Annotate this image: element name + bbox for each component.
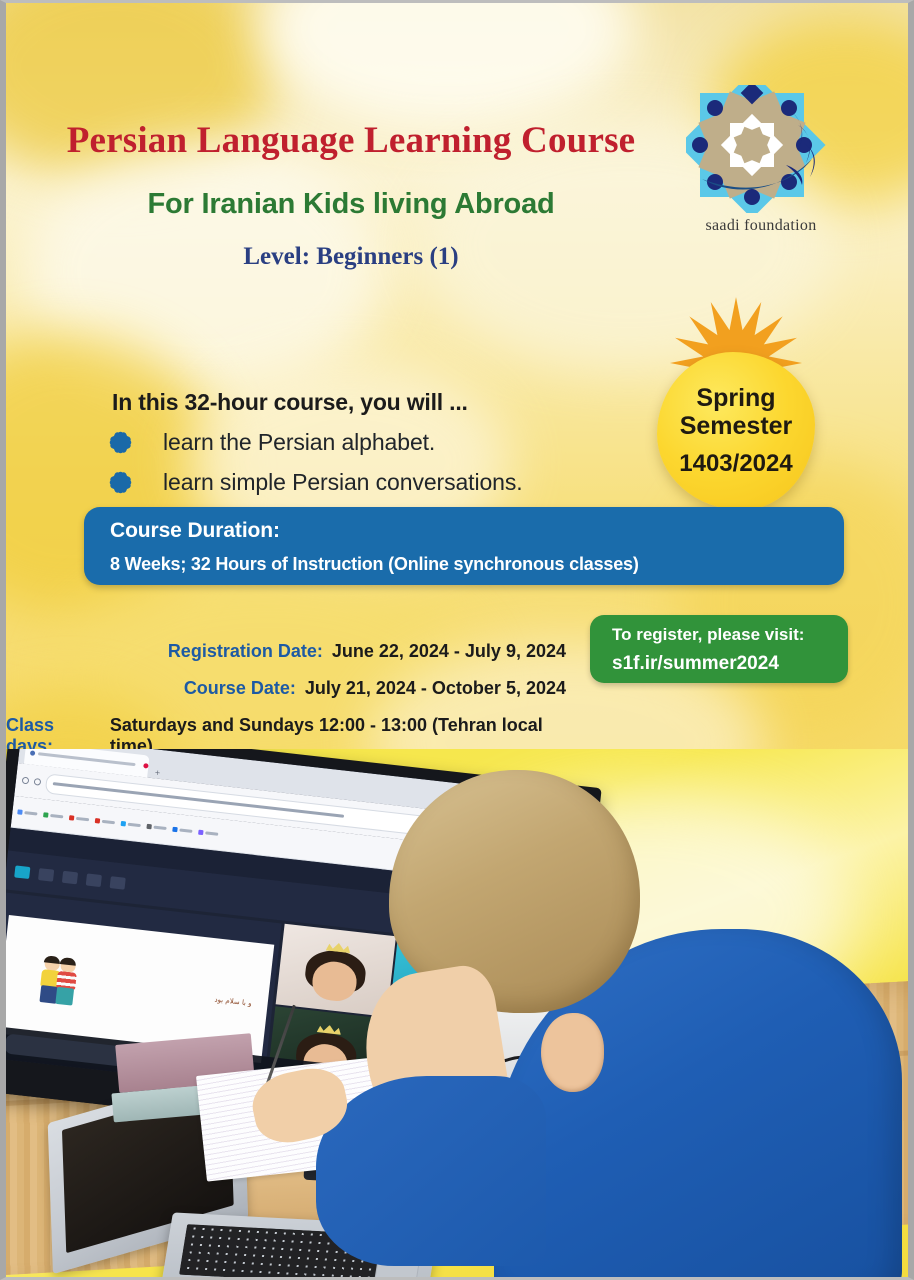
duration-title: Course Duration: bbox=[110, 519, 844, 543]
semester-year: 1403/2024 bbox=[679, 450, 792, 478]
page-subtitle: For Iranian Kids living Abroad bbox=[6, 188, 696, 221]
boy-arm bbox=[316, 1076, 546, 1266]
registration-date-value: June 22, 2024 - July 9, 2024 bbox=[332, 641, 566, 662]
course-date-value: July 21, 2024 - October 5, 2024 bbox=[305, 678, 566, 699]
student-boy bbox=[358, 749, 881, 1277]
cartoon-boy-striped bbox=[53, 958, 80, 1006]
semester-season: Spring bbox=[696, 384, 775, 412]
registration-link-box[interactable]: To register, please visit: s1f.ir/summer… bbox=[590, 615, 848, 683]
classroom-photo: + bbox=[6, 749, 908, 1277]
course-duration-banner: Course Duration: 8 Weeks; 32 Hours of In… bbox=[84, 507, 844, 585]
new-tab-icon: + bbox=[151, 768, 163, 780]
course-level: Level: Beginners (1) bbox=[6, 243, 696, 271]
camera-icon bbox=[14, 865, 30, 879]
list-item-label: learn simple Persian conversations. bbox=[163, 469, 523, 496]
star-bullet-icon bbox=[112, 474, 129, 491]
course-date-label: Course Date: bbox=[184, 678, 296, 699]
logo-caption: saadi foundation bbox=[676, 217, 846, 235]
register-url[interactable]: s1f.ir/summer2024 bbox=[612, 653, 848, 675]
registration-date-label: Registration Date: bbox=[168, 641, 323, 662]
microphone-icon bbox=[38, 868, 54, 882]
duration-detail: 8 Weeks; 32 Hours of Instruction (Online… bbox=[110, 554, 844, 575]
notes-icon bbox=[86, 873, 102, 887]
schedule-row: Registration Date: June 22, 2024 - July … bbox=[6, 641, 566, 662]
course-outcomes: In this 32-hour course, you will ... lea… bbox=[112, 389, 523, 496]
sun-core: Spring Semester 1403/2024 bbox=[657, 352, 815, 510]
whiteboard-persian-text: و با سلام بود bbox=[214, 996, 252, 1008]
forward-icon bbox=[33, 778, 41, 786]
page-title: Persian Language Learning Course bbox=[6, 119, 696, 162]
logo-block: saadi foundation bbox=[676, 85, 846, 235]
list-item: learn simple Persian conversations. bbox=[112, 469, 523, 496]
saadi-foundation-logo-icon bbox=[686, 85, 836, 213]
schedule-row: Course Date: July 21, 2024 - October 5, … bbox=[6, 678, 566, 699]
header-block: Persian Language Learning Course For Ira… bbox=[6, 119, 696, 271]
star-bullet-icon bbox=[112, 434, 129, 451]
outcomes-heading: In this 32-hour course, you will ... bbox=[112, 389, 523, 416]
list-item: learn the Persian alphabet. bbox=[112, 429, 523, 456]
participants-icon bbox=[109, 876, 125, 890]
register-prompt: To register, please visit: bbox=[612, 625, 848, 645]
list-item-label: learn the Persian alphabet. bbox=[163, 429, 435, 456]
screen-share-icon bbox=[62, 871, 78, 885]
back-icon bbox=[22, 777, 30, 785]
semester-word: Semester bbox=[680, 412, 793, 440]
course-poster: Persian Language Learning Course For Ira… bbox=[0, 0, 914, 1280]
boy-ear bbox=[541, 1013, 604, 1092]
